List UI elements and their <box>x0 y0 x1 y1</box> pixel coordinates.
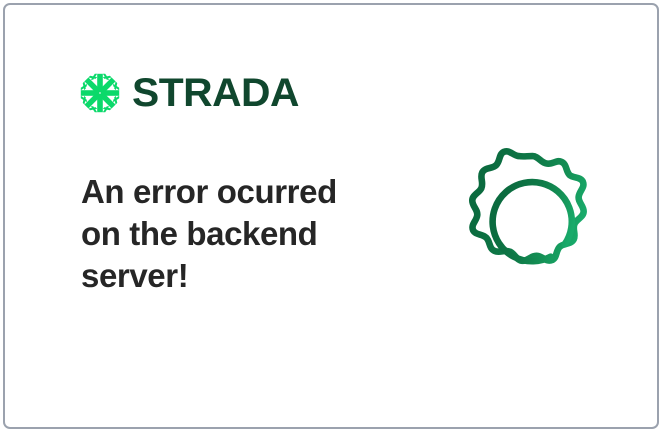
gear-cog-icon <box>450 142 615 312</box>
error-headline: An error ocurred on the backend server! <box>81 171 381 297</box>
error-card: STRADA An error ocurred on the backend s… <box>3 3 659 429</box>
brand-wordmark: STRADA <box>132 73 299 113</box>
brand-lockup: STRADA <box>80 73 296 113</box>
strada-asterisk-icon <box>80 73 120 113</box>
